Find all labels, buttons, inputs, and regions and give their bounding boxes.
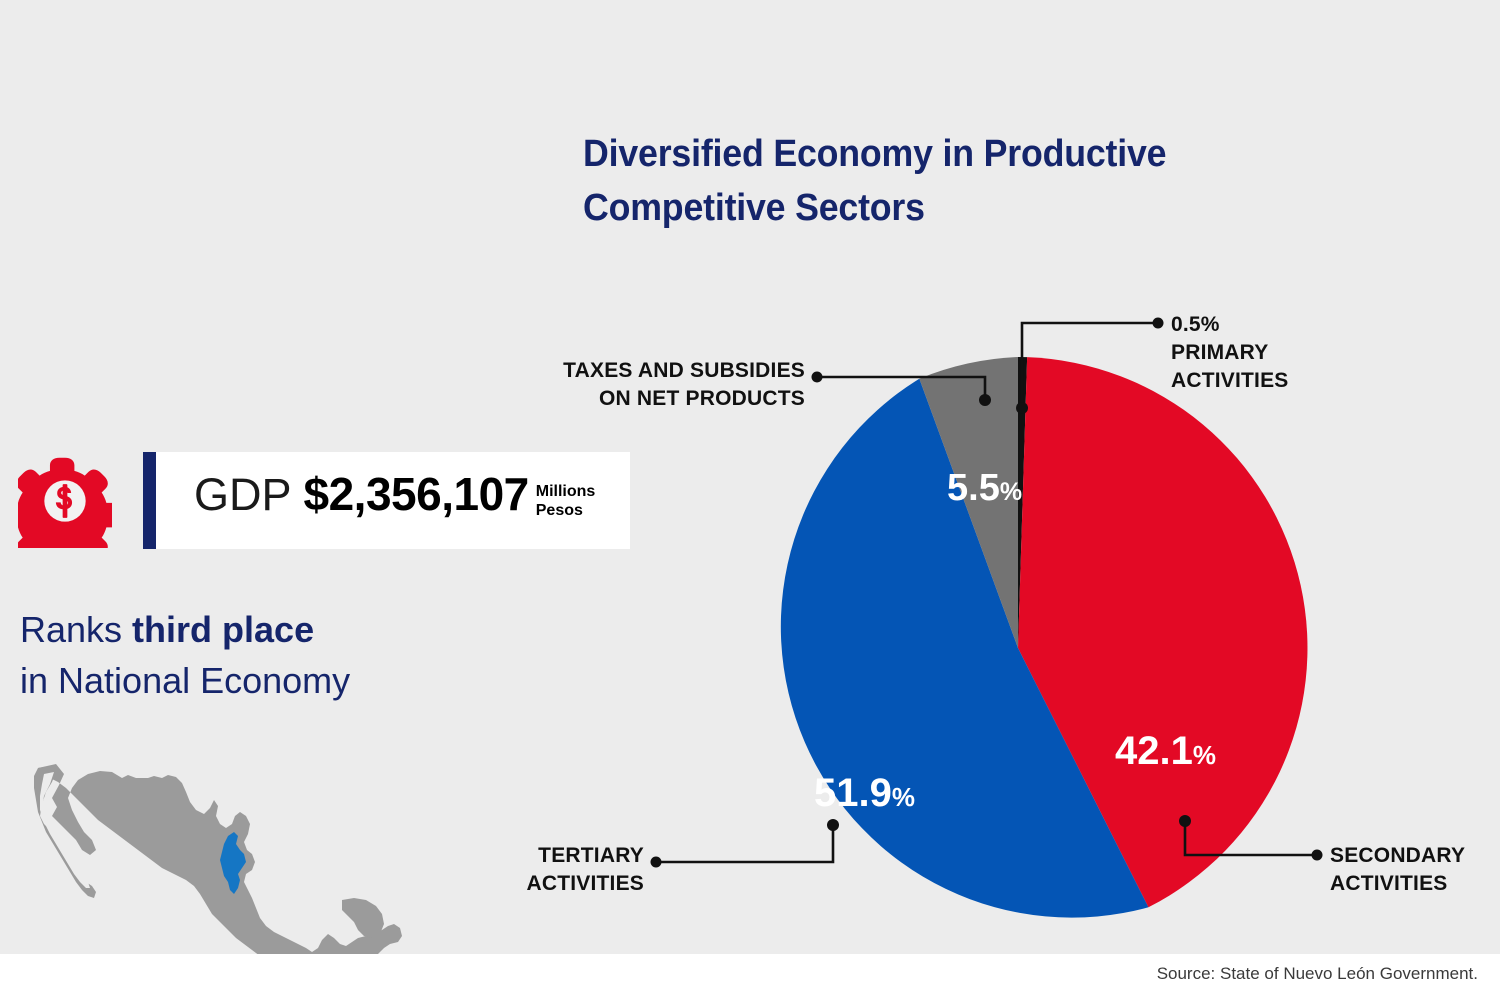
callout-dot-taxes-start — [979, 394, 991, 406]
callout-dot-secondary-start — [1179, 815, 1191, 827]
callout-label-primary-line3: ACTIVITIES — [1171, 369, 1289, 392]
callout-label-primary: 0.5% — [1171, 313, 1220, 336]
source-note: Source: State of Nuevo León Government. — [1157, 964, 1478, 984]
callout-dot-tertiary-end — [651, 857, 662, 868]
pie-chart: 51.9% 42.1% 5.5% 0.5% PRIMARY ACTIVITIES… — [0, 0, 1500, 1000]
callout-dot-primary-end — [1153, 318, 1164, 329]
callout-label-taxes: TAXES AND SUBSIDIES — [563, 359, 805, 382]
infographic-canvas: Diversified Economy in Productive Compet… — [0, 0, 1500, 1000]
callout-label-secondary: SECONDARY — [1330, 844, 1465, 867]
callout-label-primary-line2: PRIMARY — [1171, 341, 1268, 364]
callout-leader-tertiary — [657, 826, 833, 862]
callout-dot-secondary-end — [1312, 850, 1323, 861]
callout-label-tertiary: TERTIARY — [538, 844, 644, 867]
footer-bar: Source: State of Nuevo León Government. — [0, 954, 1500, 1000]
callout-dot-primary-start — [1016, 402, 1028, 414]
callout-label-taxes-line2: ON NET PRODUCTS — [599, 387, 805, 410]
callout-label-secondary-line2: ACTIVITIES — [1330, 872, 1448, 895]
callout-label-tertiary-line2: ACTIVITIES — [526, 872, 644, 895]
callout-dot-tertiary-start — [827, 819, 839, 831]
callout-dot-taxes-end — [812, 372, 823, 383]
